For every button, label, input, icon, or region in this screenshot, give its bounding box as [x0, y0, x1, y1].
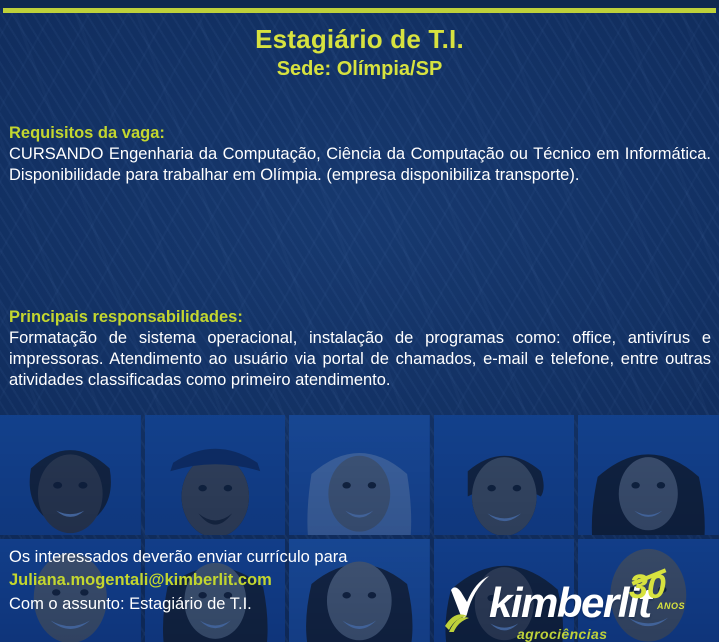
portrait-man-cap-icon: [145, 415, 286, 535]
photo-strip-top: [0, 415, 719, 535]
photo-blue-tint: [578, 415, 719, 535]
portrait-photo: [145, 415, 286, 535]
responsibilities-section: Principais responsabilidades: Formatação…: [9, 308, 711, 391]
anniversary-badge: 30 ANOS: [629, 570, 699, 626]
badge-label: ANOS: [657, 601, 685, 611]
portrait-woman-brunette-icon: [578, 415, 719, 535]
portrait-photo: [434, 415, 575, 535]
job-posting-poster: Estagiário de T.I. Sede: Olímpia/SP Requ…: [0, 0, 719, 642]
contact-instruction: Os interessados deverão enviar currículo…: [9, 546, 439, 569]
photo-blue-tint: [0, 415, 141, 535]
requirements-heading: Requisitos da vaga:: [9, 124, 711, 143]
logo-tagline: agrociências: [517, 626, 607, 642]
portrait-photo: [578, 415, 719, 535]
leaf-checkmark-icon: [443, 568, 495, 632]
responsibilities-heading: Principais responsabilidades:: [9, 308, 711, 327]
badge-number: 30: [629, 570, 699, 604]
top-strip: [0, 0, 719, 8]
portrait-woman-1-icon: [0, 415, 141, 535]
green-accent-bar: [3, 8, 716, 13]
logo-wordmark: kimberlit: [489, 582, 651, 624]
page-subtitle: Sede: Olímpia/SP: [0, 58, 719, 81]
portrait-photo: [289, 415, 430, 535]
page-title: Estagiário de T.I.: [0, 24, 719, 55]
photo-blue-tint: [145, 415, 286, 535]
photo-blue-tint: [434, 415, 575, 535]
portrait-woman-blonde-icon: [289, 415, 430, 535]
contact-subject: Com o assunto: Estagiário de T.I.: [9, 593, 439, 616]
requirements-section: Requisitos da vaga: CURSANDO Engenharia …: [9, 124, 711, 186]
photo-blue-tint: [289, 415, 430, 535]
kimberlit-logo: kimberlit agrociências 30 ANOS: [443, 556, 713, 642]
portrait-photo: [0, 415, 141, 535]
requirements-text: CURSANDO Engenharia da Computação, Ciênc…: [9, 144, 711, 186]
contact-email[interactable]: Juliana.mogentali@kimberlit.com: [9, 569, 439, 592]
contact-section: Os interessados deverão enviar currículo…: [9, 546, 439, 616]
responsibilities-text: Formatação de sistema operacional, insta…: [9, 328, 711, 391]
portrait-man-smiling-icon: [434, 415, 575, 535]
